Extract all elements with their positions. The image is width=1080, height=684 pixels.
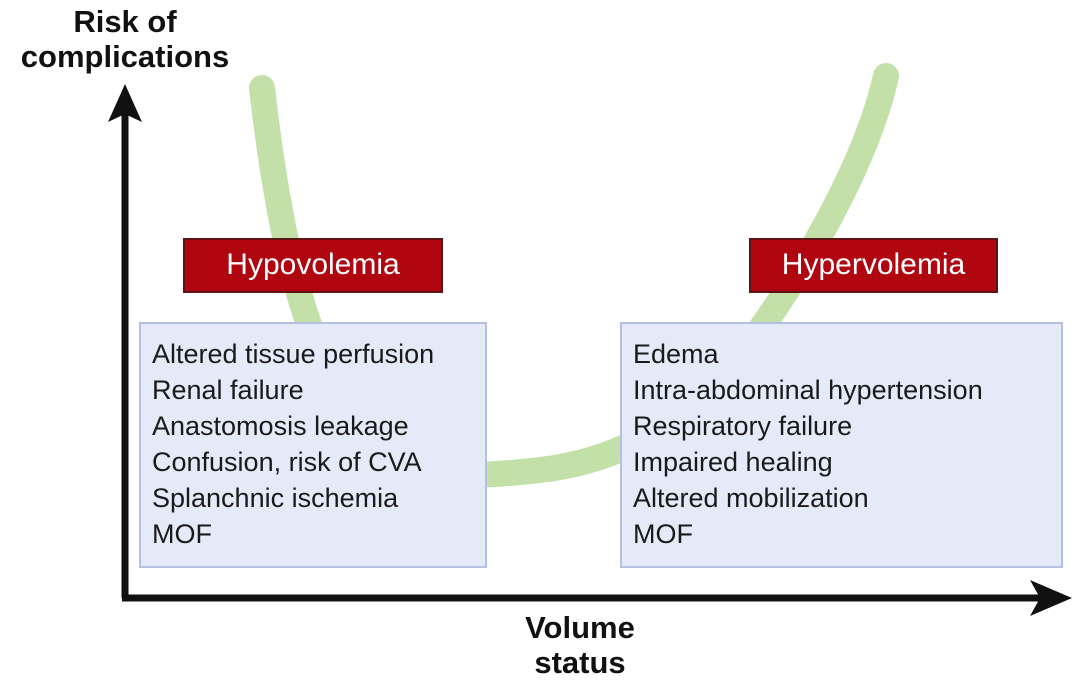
figure-root: Risk of complications Volume status Hypo… [0, 0, 1080, 684]
axes-layer [0, 0, 1080, 684]
